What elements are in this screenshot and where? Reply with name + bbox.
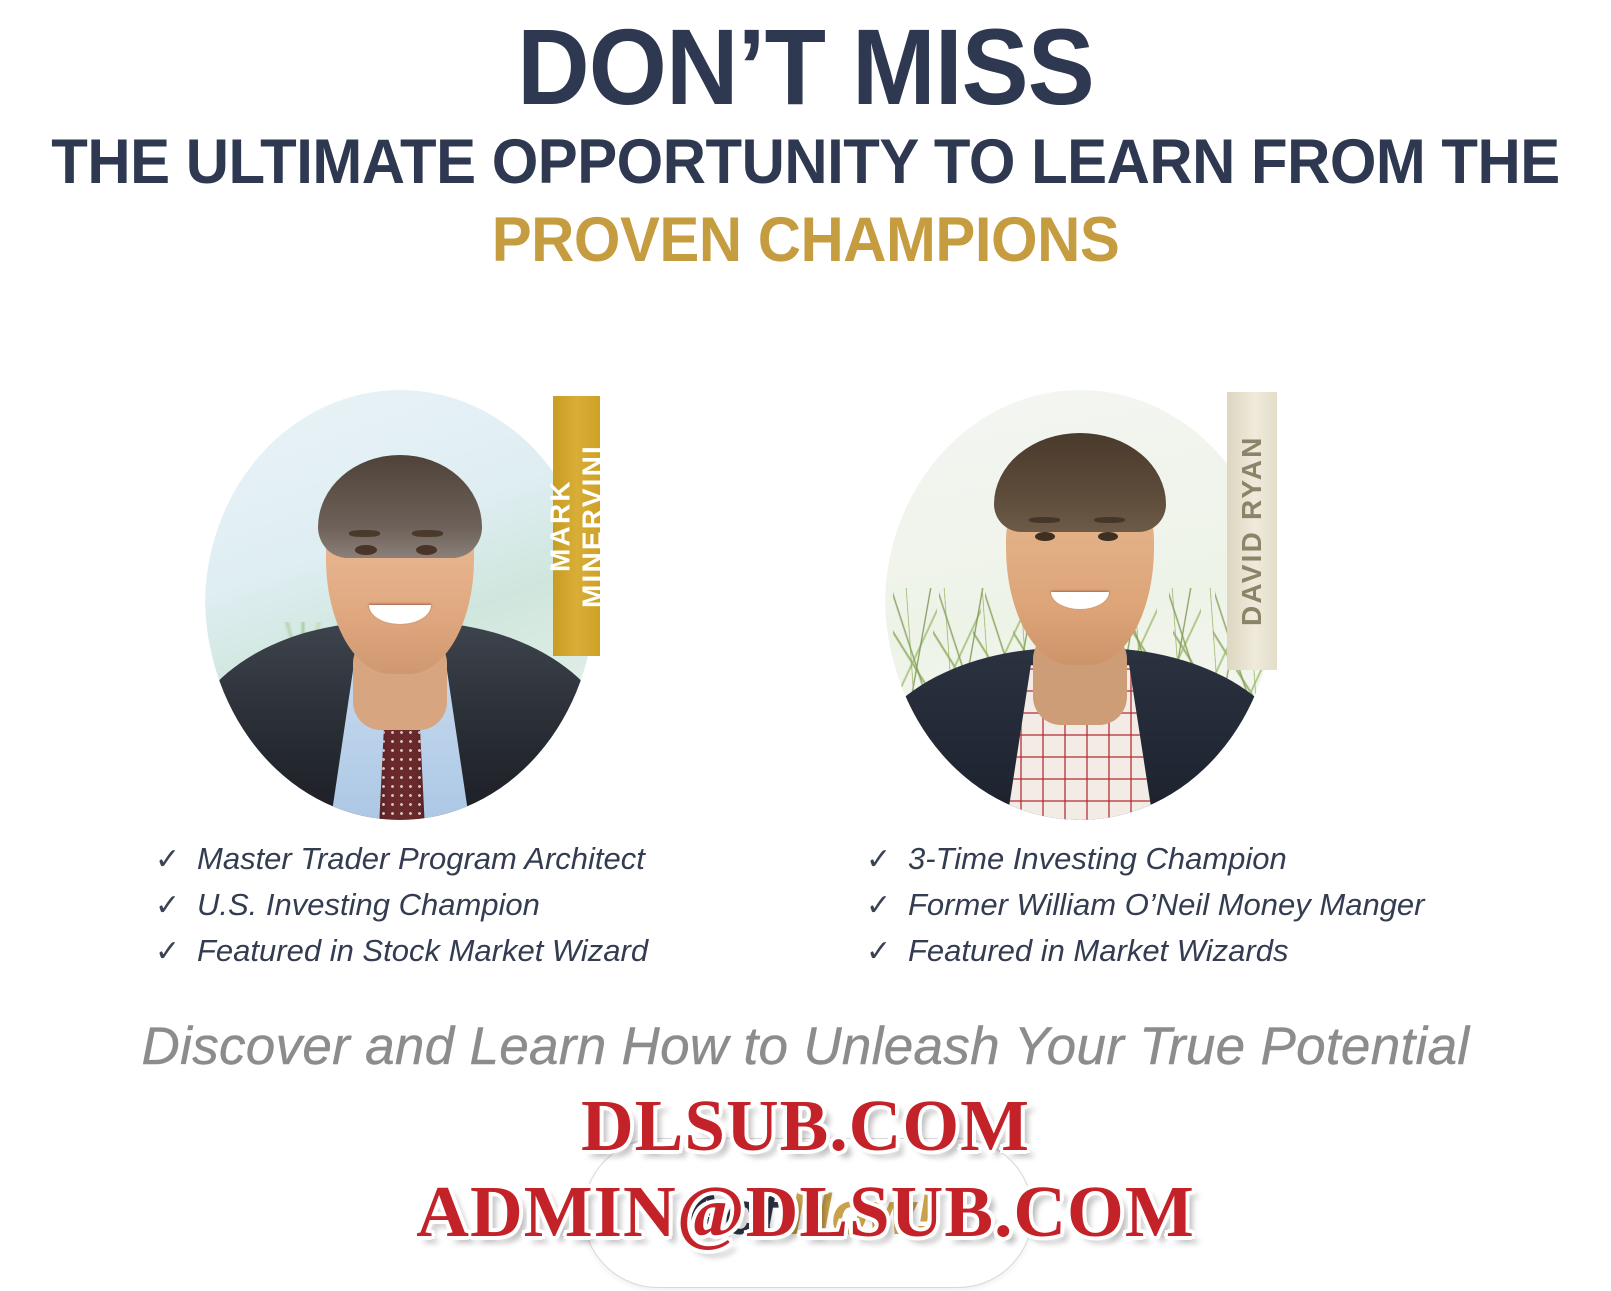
eye-left	[355, 545, 376, 555]
check-icon: ✓	[866, 937, 908, 967]
eyebrow-left	[1029, 517, 1060, 523]
eye-right	[416, 545, 437, 555]
check-icon: ✓	[155, 891, 197, 921]
list-item: ✓ 3-Time Investing Champion	[866, 836, 1506, 882]
portrait-frame	[205, 390, 595, 820]
tagline: Discover and Learn How to Unleash Your T…	[0, 1014, 1611, 1080]
list-item: ✓ U.S. Investing Champion	[155, 882, 775, 928]
watermark-email: ADMIN@DLSUB.COM	[0, 1172, 1611, 1252]
list-item: ✓ Featured in Stock Market Wizard	[155, 928, 775, 974]
credentials-list-david-ryan: ✓ 3-Time Investing Champion ✓ Former Wil…	[866, 836, 1506, 974]
check-icon: ✓	[155, 937, 197, 967]
credential-label: Master Trader Program Architect	[197, 836, 645, 882]
headline-accent: PROVEN CHAMPIONS	[40, 204, 1570, 276]
portrait-frame	[885, 390, 1275, 820]
credential-label: Former William O’Neil Money Manger	[908, 882, 1425, 928]
speaker-credentials-row: ✓ Master Trader Program Architect ✓ U.S.…	[0, 836, 1611, 981]
speaker-name-banner-mark-minervini: MARK MINERVINI	[553, 396, 600, 656]
credentials-list-mark-minervini: ✓ Master Trader Program Architect ✓ U.S.…	[155, 836, 775, 974]
credential-label: U.S. Investing Champion	[197, 882, 540, 928]
list-item: ✓ Featured in Market Wizards	[866, 928, 1506, 974]
speakers-row: MARK MINERVINI DAVID RYAN	[0, 382, 1611, 827]
eyebrow-right	[412, 530, 443, 537]
eyebrow-right	[1094, 517, 1125, 523]
headline-block: DON’T MISS THE ULTIMATE OPPORTUNITY TO L…	[0, 0, 1611, 276]
headline-primary: DON’T MISS	[56, 8, 1554, 126]
headline-secondary: THE ULTIMATE OPPORTUNITY TO LEARN FROM T…	[40, 126, 1570, 198]
check-icon: ✓	[155, 845, 197, 875]
speaker-name-banner-david-ryan: DAVID RYAN	[1227, 392, 1277, 670]
list-item: ✓ Former William O’Neil Money Manger	[866, 882, 1506, 928]
mark-minervini-portrait	[205, 390, 595, 820]
david-ryan-portrait	[885, 390, 1275, 820]
credential-label: Featured in Market Wizards	[908, 928, 1288, 974]
check-icon: ✓	[866, 891, 908, 921]
list-item: ✓ Master Trader Program Architect	[155, 836, 775, 882]
eyebrow-left	[349, 530, 380, 537]
check-icon: ✓	[866, 845, 908, 875]
watermark-domain: DLSUB.COM	[0, 1086, 1611, 1166]
credential-label: 3-Time Investing Champion	[908, 836, 1287, 882]
credential-label: Featured in Stock Market Wizard	[197, 928, 648, 974]
speaker-card-mark-minervini: MARK MINERVINI	[185, 382, 805, 827]
speaker-card-david-ryan: DAVID RYAN	[865, 382, 1485, 827]
